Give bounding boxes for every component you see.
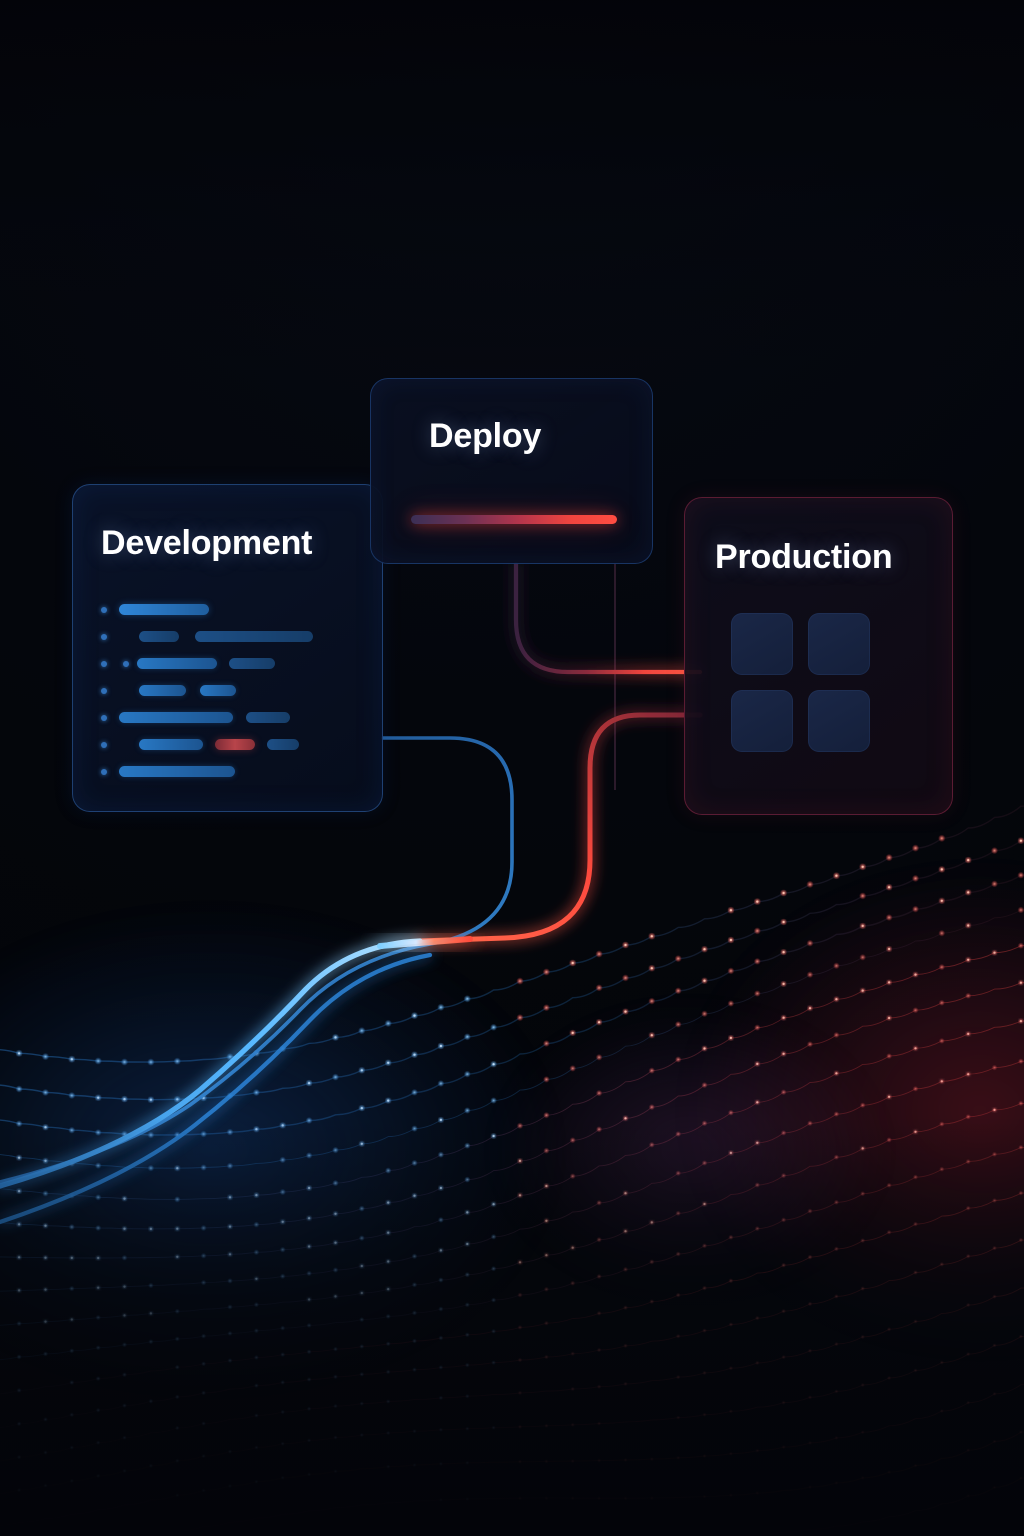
deploy-to-production-connector — [516, 564, 700, 672]
deploy-card[interactable]: Deploy — [370, 378, 653, 564]
top-vignette — [0, 0, 1024, 380]
deploy-card-title: Deploy — [429, 417, 541, 456]
bottom-vignette — [0, 1116, 1024, 1536]
code-token — [119, 712, 233, 723]
scene-root: Development Deploy Production — [0, 0, 1024, 1536]
code-line — [101, 604, 361, 615]
code-token — [229, 658, 275, 669]
code-bullet-icon — [101, 607, 107, 613]
development-card-title: Development — [101, 524, 312, 563]
code-token — [139, 739, 203, 750]
code-line — [101, 712, 361, 723]
code-bullet-icon — [101, 688, 107, 694]
production-card-title: Production — [715, 538, 892, 577]
code-token — [139, 685, 186, 696]
code-token — [195, 631, 313, 642]
production-tile-1[interactable] — [731, 613, 793, 675]
code-token — [139, 631, 179, 642]
code-token-highlight — [215, 739, 255, 750]
code-line — [101, 739, 361, 750]
production-card[interactable]: Production — [684, 497, 953, 815]
production-tile-2[interactable] — [808, 613, 870, 675]
code-bullet-icon — [101, 742, 107, 748]
code-token — [119, 604, 209, 615]
blue-red-crossfade-node — [380, 939, 470, 946]
development-card[interactable]: Development — [72, 484, 383, 812]
code-bullet-icon — [101, 715, 107, 721]
code-bullet-icon — [123, 661, 129, 667]
code-line — [101, 631, 361, 642]
code-token — [200, 685, 236, 696]
deploy-progress-bar — [411, 515, 617, 524]
production-tile-grid — [731, 613, 870, 752]
code-token — [119, 766, 235, 777]
production-tile-4[interactable] — [808, 690, 870, 752]
production-tile-3[interactable] — [731, 690, 793, 752]
code-token — [137, 658, 217, 669]
code-token — [267, 739, 299, 750]
code-token — [246, 712, 290, 723]
code-bullet-icon — [101, 769, 107, 775]
code-bullet-icon — [101, 661, 107, 667]
code-line — [101, 658, 361, 669]
code-line — [101, 766, 361, 777]
code-line — [101, 685, 361, 696]
development-to-production-connector — [420, 715, 700, 941]
code-bullet-icon — [101, 634, 107, 640]
